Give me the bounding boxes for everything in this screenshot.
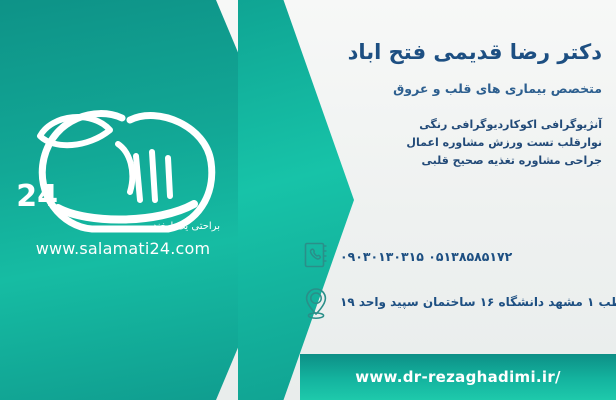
business-card: 24 براحتی یک لبخند www.salamati24.com دک… xyxy=(0,0,616,400)
doctor-name: دکتر رضا قدیمی فتح اباد xyxy=(302,40,602,65)
brand-website: www.salamati24.com xyxy=(18,239,228,258)
clinic-address: مطب ۱ مشهد دانشگاه ۱۶ ساختمان سپید واحد … xyxy=(340,295,616,309)
doctor-specialty: متخصص بیماری های قلب و عروق xyxy=(302,81,602,96)
phone-book-icon xyxy=(302,240,330,272)
brand-tagline: براحتی یک لبخند xyxy=(153,221,221,232)
footer-bar: www.dr-rezaghadimi.ir/ xyxy=(300,354,616,400)
phone-numbers: ۰۵۱۳۸۵۸۵۱۷۲ ۰۹۰۳۰۱۳۰۳۱۵ xyxy=(340,249,512,264)
service-item: نوارقلب تست ورزش مشاوره اعمال xyxy=(302,134,602,152)
contact-block: ۰۵۱۳۸۵۸۵۱۷۲ ۰۹۰۳۰۱۳۰۳۱۵ مطب ۱ مشهد دانشگ… xyxy=(302,240,602,332)
map-pin-icon xyxy=(302,286,330,318)
service-item: آنژیوگرافی اکوکاردیوگرافی رنگی xyxy=(302,116,602,134)
brand-logo: 24 براحتی یک لبخند www.salamati24.com xyxy=(18,96,228,276)
address-row: مطب ۱ مشهد دانشگاه ۱۶ ساختمان سپید واحد … xyxy=(302,286,602,318)
service-item: جراحی مشاوره تغذیه صحیح قلبی xyxy=(302,152,602,170)
services-list: آنژیوگرافی اکوکاردیوگرافی رنگی نوارقلب ت… xyxy=(302,116,602,170)
phone-row: ۰۵۱۳۸۵۸۵۱۷۲ ۰۹۰۳۰۱۳۰۳۱۵ xyxy=(302,240,602,272)
doctor-info: دکتر رضا قدیمی فتح اباد متخصص بیماری های… xyxy=(302,0,602,171)
website-url[interactable]: www.dr-rezaghadimi.ir/ xyxy=(355,368,561,386)
logo-number-24: 24 xyxy=(18,179,58,214)
